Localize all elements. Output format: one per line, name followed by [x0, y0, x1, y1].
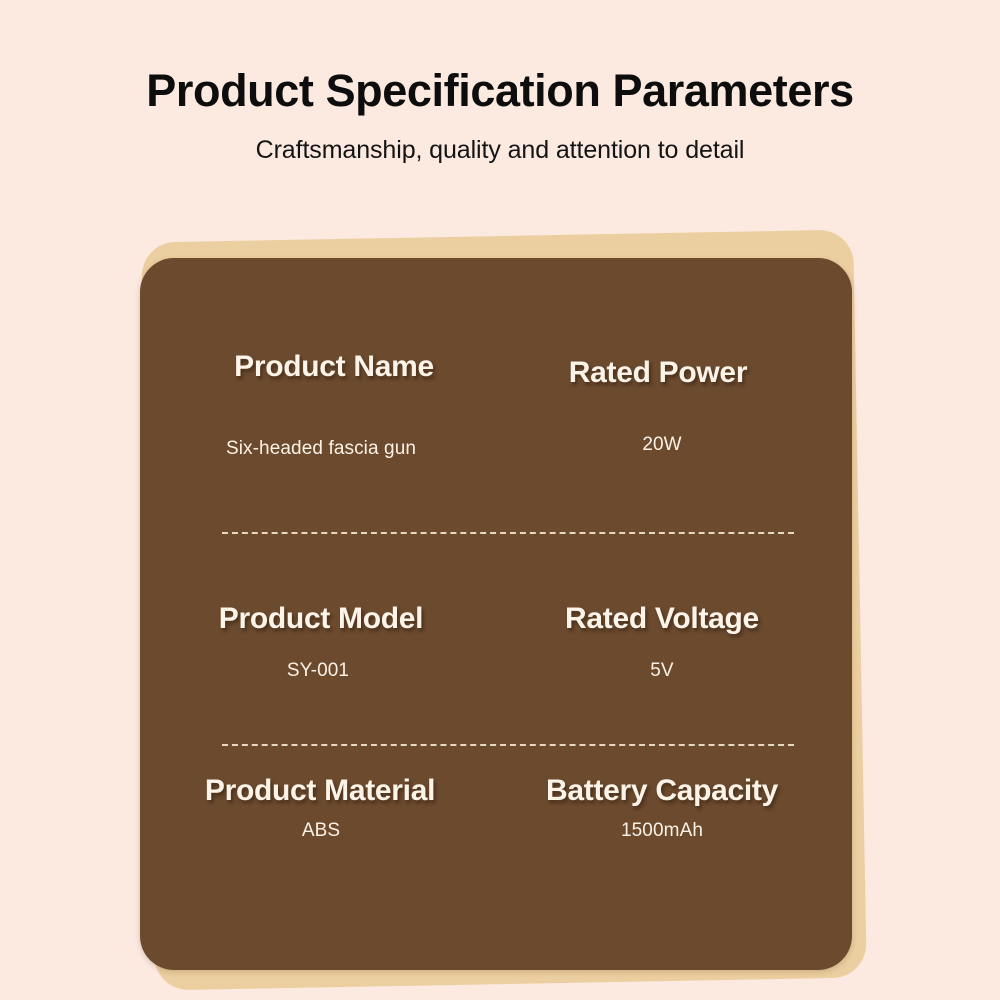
spec-value: Six-headed fascia gun	[162, 438, 480, 460]
spec-row: Product Name Six-headed fascia gun Rated…	[140, 350, 852, 530]
spec-card: Product Name Six-headed fascia gun Rated…	[140, 258, 852, 970]
spec-label: Rated Voltage	[492, 602, 832, 637]
page-subtitle: Craftsmanship, quality and attention to …	[0, 116, 1000, 165]
spec-value: ABS	[162, 820, 480, 842]
spec-cell-product-name: Product Name Six-headed fascia gun	[162, 350, 480, 460]
spec-cell-product-material: Product Material ABS	[162, 774, 480, 842]
spec-row: Product Model SY-001 Rated Voltage 5V	[140, 602, 852, 752]
spec-label: Battery Capacity	[492, 774, 832, 809]
spec-label: Product Name	[175, 350, 493, 385]
spec-value: 5V	[492, 660, 832, 682]
spec-cell-battery-capacity: Battery Capacity 1500mAh	[492, 774, 832, 842]
spec-label: Product Model	[162, 602, 480, 637]
spec-card-stack: Product Name Six-headed fascia gun Rated…	[140, 236, 860, 988]
spec-value: SY-001	[159, 660, 477, 682]
spec-table: Product Name Six-headed fascia gun Rated…	[140, 258, 852, 970]
spec-cell-rated-power: Rated Power 20W	[492, 350, 832, 460]
spec-row: Product Material ABS Battery Capacity 15…	[140, 774, 852, 924]
spec-cell-rated-voltage: Rated Voltage 5V	[492, 602, 832, 682]
spec-label: Rated Power	[488, 356, 828, 391]
page-title: Product Specification Parameters	[0, 0, 1000, 116]
spec-value: 1500mAh	[492, 820, 832, 842]
product-spec-page: Product Specification Parameters Craftsm…	[0, 0, 1000, 1000]
spec-cell-product-model: Product Model SY-001	[162, 602, 480, 682]
spec-value: 20W	[492, 434, 832, 456]
spec-divider	[222, 532, 794, 534]
spec-divider	[222, 744, 794, 746]
header: Product Specification Parameters Craftsm…	[0, 0, 1000, 165]
spec-label: Product Material	[161, 774, 479, 809]
